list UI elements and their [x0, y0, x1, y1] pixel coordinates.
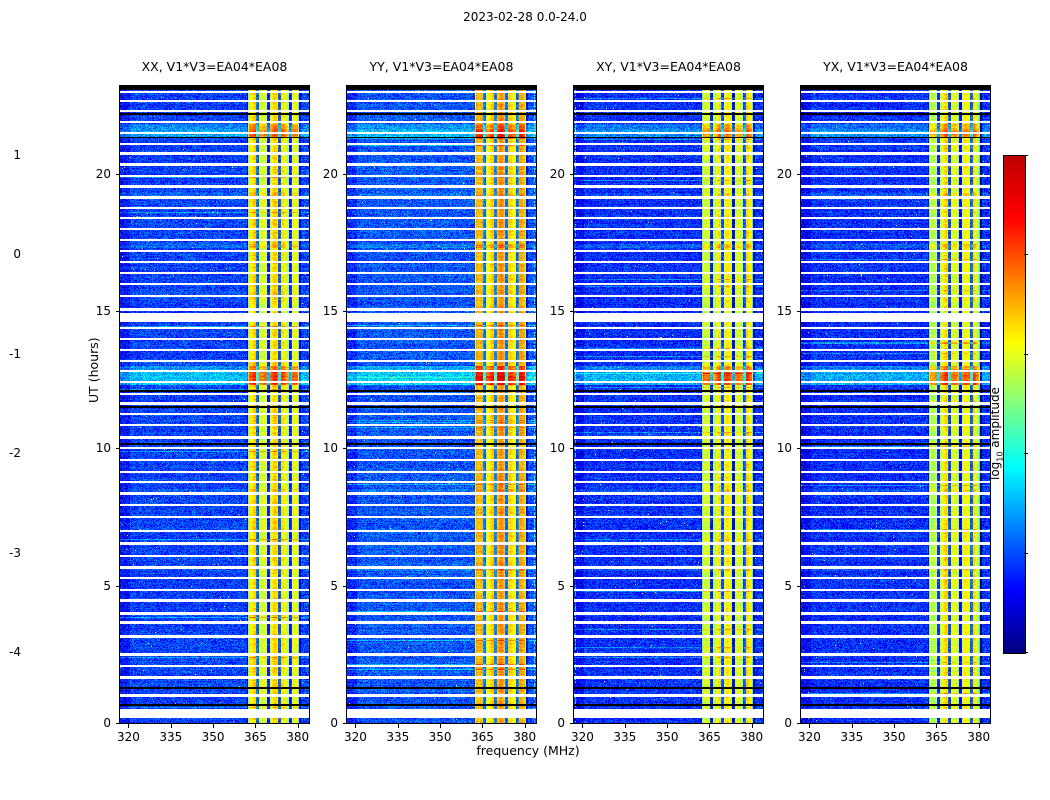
x-tick-label: 365	[471, 730, 494, 744]
x-tick-mark	[128, 724, 129, 728]
x-tick-label: 380	[967, 730, 990, 744]
colorbar-tick-mark	[1024, 553, 1028, 554]
x-tick-mark	[255, 724, 256, 728]
x-tick-label: 350	[656, 730, 679, 744]
x-tick-label: 320	[344, 730, 367, 744]
y-tick-label: 15	[550, 304, 565, 318]
colorbar-tick-mark	[1024, 155, 1028, 156]
y-tick-mark	[116, 174, 120, 175]
x-tick-mark	[709, 724, 710, 728]
y-tick-mark	[570, 586, 574, 587]
y-tick-label: 5	[330, 579, 338, 593]
x-tick-mark	[213, 724, 214, 728]
x-tick-label: 365	[698, 730, 721, 744]
heatmap-canvas-yy	[347, 86, 536, 723]
y-tick-mark	[797, 311, 801, 312]
colorbar-tick-mark	[1024, 652, 1028, 653]
y-tick-label: 0	[103, 716, 111, 730]
y-tick-mark	[116, 586, 120, 587]
x-tick-mark	[667, 724, 668, 728]
colorbar-tick-label: 0	[13, 247, 21, 261]
x-axis-ticks-yy: 320335350365380	[347, 724, 536, 754]
x-tick-mark	[398, 724, 399, 728]
y-tick-label: 20	[96, 167, 111, 181]
y-axis-ticks-xx: 05101520	[82, 86, 120, 723]
y-tick-label: 5	[557, 579, 565, 593]
y-axis-ticks-xy: 05101520	[536, 86, 574, 723]
x-tick-mark	[171, 724, 172, 728]
panel-xx[interactable]: XX, V1*V3=EA04*EA08 05101520 32033535036…	[119, 85, 310, 724]
x-tick-label: 380	[740, 730, 763, 744]
colorbar[interactable]	[1003, 155, 1026, 654]
colorbar-tick-label: -4	[9, 645, 21, 659]
y-tick-mark	[570, 311, 574, 312]
colorbar-tick-label: -1	[9, 347, 21, 361]
x-tick-label: 350	[883, 730, 906, 744]
x-tick-label: 335	[386, 730, 409, 744]
x-tick-label: 335	[840, 730, 863, 744]
x-tick-mark	[355, 724, 356, 728]
colorbar-label-main: log	[988, 462, 1002, 480]
figure-suptitle: 2023-02-28 0.0-24.0	[0, 10, 1050, 24]
x-tick-label: 365	[925, 730, 948, 744]
x-tick-mark	[894, 724, 895, 728]
heatmap-canvas-yx	[801, 86, 990, 723]
x-tick-label: 335	[159, 730, 182, 744]
y-tick-mark	[343, 586, 347, 587]
y-tick-label: 15	[96, 304, 111, 318]
y-tick-mark	[570, 448, 574, 449]
panel-title-yx: YX, V1*V3=EA04*EA08	[761, 59, 1030, 74]
x-axis-ticks-xy: 320335350365380	[574, 724, 763, 754]
y-tick-label: 5	[103, 579, 111, 593]
colorbar-tick-mark	[1024, 453, 1028, 454]
x-tick-label: 350	[429, 730, 452, 744]
x-tick-mark	[979, 724, 980, 728]
y-tick-mark	[797, 448, 801, 449]
x-tick-label: 320	[798, 730, 821, 744]
y-tick-label: 20	[777, 167, 792, 181]
panel-yx[interactable]: YX, V1*V3=EA04*EA08 05101520 32033535036…	[800, 85, 991, 724]
y-axis-ticks-yy: 05101520	[309, 86, 347, 723]
colorbar-label-sub: 10	[995, 452, 1004, 462]
x-tick-mark	[440, 724, 441, 728]
y-tick-label: 0	[557, 716, 565, 730]
heatmap-canvas-xx	[120, 86, 309, 723]
colorbar-tick-label: 1	[13, 148, 21, 162]
y-tick-mark	[343, 311, 347, 312]
x-tick-label: 320	[571, 730, 594, 744]
y-tick-label: 10	[550, 441, 565, 455]
y-tick-mark	[797, 586, 801, 587]
colorbar-label-tail: amplitude	[988, 387, 1002, 451]
y-tick-mark	[343, 174, 347, 175]
colorbar-tick-mark	[1024, 354, 1028, 355]
x-tick-mark	[298, 724, 299, 728]
y-tick-mark	[343, 448, 347, 449]
x-axis-ticks-yx: 320335350365380	[801, 724, 990, 754]
x-tick-label: 380	[513, 730, 536, 744]
y-axis-ticks-yx: 05101520	[763, 86, 801, 723]
y-tick-label: 10	[323, 441, 338, 455]
x-tick-mark	[525, 724, 526, 728]
y-tick-label: 10	[777, 441, 792, 455]
panel-yy[interactable]: YY, V1*V3=EA04*EA08 05101520 32033535036…	[346, 85, 537, 724]
x-tick-label: 335	[613, 730, 636, 744]
colorbar-tick-label: -3	[9, 546, 21, 560]
x-tick-mark	[852, 724, 853, 728]
x-tick-mark	[482, 724, 483, 728]
colorbar-tick-mark	[1024, 254, 1028, 255]
x-tick-label: 350	[202, 730, 225, 744]
x-tick-label: 320	[117, 730, 140, 744]
y-tick-label: 0	[330, 716, 338, 730]
y-tick-label: 0	[784, 716, 792, 730]
y-tick-label: 15	[323, 304, 338, 318]
y-tick-mark	[797, 174, 801, 175]
x-tick-mark	[752, 724, 753, 728]
x-tick-mark	[625, 724, 626, 728]
y-tick-label: 15	[777, 304, 792, 318]
y-tick-mark	[116, 311, 120, 312]
y-tick-label: 10	[96, 441, 111, 455]
y-tick-label: 20	[550, 167, 565, 181]
x-tick-mark	[809, 724, 810, 728]
heatmap-canvas-xy	[574, 86, 763, 723]
x-tick-mark	[582, 724, 583, 728]
y-tick-mark	[116, 448, 120, 449]
colorbar-canvas	[1004, 156, 1025, 653]
y-tick-label: 5	[784, 579, 792, 593]
spectrogram-figure: 2023-02-28 0.0-24.0 UT (hours) frequency…	[0, 0, 1050, 800]
x-tick-mark	[936, 724, 937, 728]
panel-xy[interactable]: XY, V1*V3=EA04*EA08 05101520 32033535036…	[573, 85, 764, 724]
colorbar-label: log10 amplitude	[988, 387, 1004, 480]
colorbar-tick-label: -2	[9, 446, 21, 460]
y-tick-label: 20	[323, 167, 338, 181]
x-axis-ticks-xx: 320335350365380	[120, 724, 309, 754]
x-tick-label: 365	[244, 730, 267, 744]
y-tick-mark	[570, 174, 574, 175]
x-tick-label: 380	[286, 730, 309, 744]
